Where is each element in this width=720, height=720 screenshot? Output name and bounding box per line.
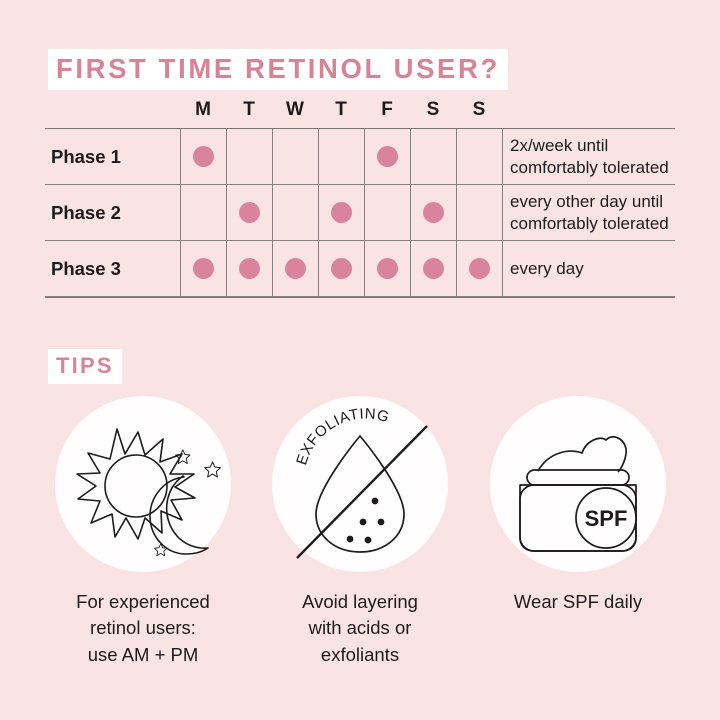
jar-lid-icon [527,470,629,485]
spf-badge-icon: SPF [576,488,636,548]
schedule-cell-p1-d5[interactable] [410,129,456,184]
table-row: Phase 2every other day untilcomfortably … [45,185,675,241]
phase-description-line-1: 2x/week until [510,135,720,157]
day-header-2: W [272,100,318,119]
schedule-dot-icon [193,258,214,279]
schedule-dot-icon [193,146,214,167]
schedule-body: Phase 12x/week untilcomfortably tolerate… [45,128,675,298]
cream-swirl-icon [538,437,626,472]
phase-description-line-1: every day [510,258,720,280]
phase-description-line-2: comfortably tolerated [510,213,720,235]
schedule-cell-p3-d6[interactable] [456,241,502,296]
schedule-dot-icon [239,258,260,279]
schedule-dot-icon [423,258,444,279]
grid-vline-1 [226,129,227,297]
phase-description: every day [510,241,720,296]
schedule-cell-p2-d1[interactable] [226,185,272,240]
day-header-5: S [410,100,456,119]
schedule-cell-p1-d1[interactable] [226,129,272,184]
grid-vline-2 [272,129,273,297]
schedule-cell-p3-d3[interactable] [318,241,364,296]
spf-cream-jar-icon: SPF [490,396,666,572]
phase-description: 2x/week untilcomfortably tolerated [510,129,720,184]
phase-description-line-1: every other day until [510,191,720,213]
grid-vline-4 [364,129,365,297]
phase-label: Phase 3 [51,241,121,296]
retinol-schedule-table: MTWTFSS Phase 12x/week untilcomfortably … [45,100,675,298]
schedule-cell-p2-d5[interactable] [410,185,456,240]
schedule-dot-icon [469,258,490,279]
schedule-dot-icon [331,202,352,223]
sun-moon-stars-icon [55,396,231,572]
table-row: Phase 3every day [45,241,675,297]
schedule-cell-p1-d2[interactable] [272,129,318,184]
schedule-cell-p1-d0[interactable] [180,129,226,184]
schedule-cell-p2-d0[interactable] [180,185,226,240]
schedule-dot-icon [285,258,306,279]
phase-label: Phase 1 [51,129,121,184]
day-header-6: S [456,100,502,119]
phase-description-line-2: comfortably tolerated [510,157,720,179]
schedule-dot-icon [423,202,444,223]
grid-vline-5 [410,129,411,297]
day-header-1: T [226,100,272,119]
schedule-cell-p1-d3[interactable] [318,129,364,184]
sun-icon [77,429,195,539]
schedule-cell-p3-d0[interactable] [180,241,226,296]
day-header-4: F [364,100,410,119]
phase-label: Phase 2 [51,185,121,240]
schedule-cell-p1-d6[interactable] [456,129,502,184]
table-row: Phase 12x/week untilcomfortably tolerate… [45,129,675,185]
svg-text:SPF: SPF [585,506,628,531]
droplet-specks [347,498,385,544]
schedule-dot-icon [239,202,260,223]
stars-icon [154,450,220,556]
schedule-dot-icon [377,146,398,167]
schedule-cell-p2-d4[interactable] [364,185,410,240]
schedule-cell-p2-d6[interactable] [456,185,502,240]
day-header-0: M [180,100,226,119]
schedule-dot-icon [331,258,352,279]
schedule-cell-p1-d4[interactable] [364,129,410,184]
tips-heading: TIPS [48,349,122,384]
tip-item-1: EXFOLIATING Avoid layering with acids or… [250,396,470,668]
schedule-dot-icon [377,258,398,279]
grid-vline-7 [502,129,503,297]
page-title: FIRST TIME RETINOL USER? [48,49,508,90]
schedule-cell-p3-d4[interactable] [364,241,410,296]
tip-item-2: SPF Wear SPF daily [468,396,688,615]
schedule-cell-p3-d2[interactable] [272,241,318,296]
tip-caption: Wear SPF daily [468,589,688,615]
day-header-3: T [318,100,364,119]
tip-item-0: For experienced retinol users: use AM + … [33,396,253,668]
schedule-cell-p2-d3[interactable] [318,185,364,240]
grid-vline-6 [456,129,457,297]
phase-description: every other day untilcomfortably tolerat… [510,185,720,240]
day-header-row: MTWTFSS [45,100,675,128]
grid-vline-0 [180,129,181,297]
schedule-cell-p2-d2[interactable] [272,185,318,240]
schedule-cell-p3-d1[interactable] [226,241,272,296]
tips-heading-wrapper: TIPS [48,349,122,384]
tip-caption: For experienced retinol users: use AM + … [33,589,253,668]
no-exfoliating-droplet-icon: EXFOLIATING [272,396,448,572]
tip-caption: Avoid layering with acids or exfoliants [250,589,470,668]
page-title-wrapper: FIRST TIME RETINOL USER? [48,49,508,90]
grid-vline-3 [318,129,319,297]
schedule-cell-p3-d5[interactable] [410,241,456,296]
